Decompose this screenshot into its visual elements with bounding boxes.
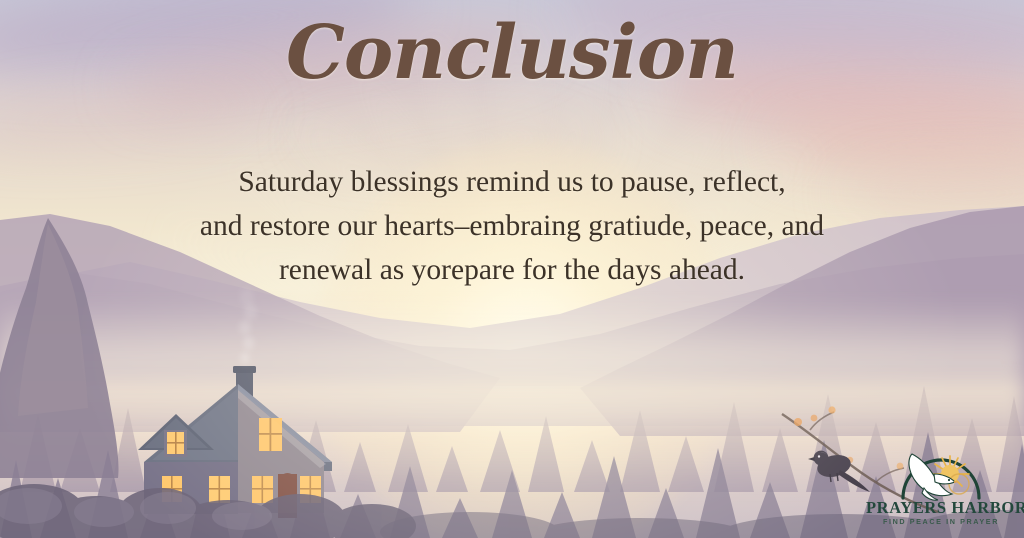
quote-line-3: renewal as yorepare for the days ahead.: [0, 248, 1024, 292]
quote-body: Saturday blessings remind us to pause, r…: [0, 160, 1024, 292]
quote-line-1: Saturday blessings remind us to pause, r…: [0, 160, 1024, 204]
blossom: [794, 418, 802, 426]
logo-wordmark: PRAYERS HARBOR: [866, 498, 1016, 518]
dove-sunburst-icon: [898, 444, 984, 502]
quote-line-2: and restore our hearts–embraing gratiude…: [0, 204, 1024, 248]
blossom: [811, 415, 818, 422]
chimney-smoke: [243, 336, 254, 350]
chimney-smoke: [239, 320, 251, 335]
blossom: [828, 406, 835, 413]
prayers-harbor-logo[interactable]: PRAYERS HARBOR FIND PEACE IN PRAYER: [866, 444, 1016, 530]
chimney-smoke: [240, 352, 250, 364]
page-title: Conclusion: [0, 14, 1024, 94]
logo-tagline: FIND PEACE IN PRAYER: [866, 517, 1016, 526]
chimney-smoke: [244, 304, 257, 320]
sunrise-quote-graphic: Conclusion Saturday blessings remind us …: [0, 0, 1024, 538]
